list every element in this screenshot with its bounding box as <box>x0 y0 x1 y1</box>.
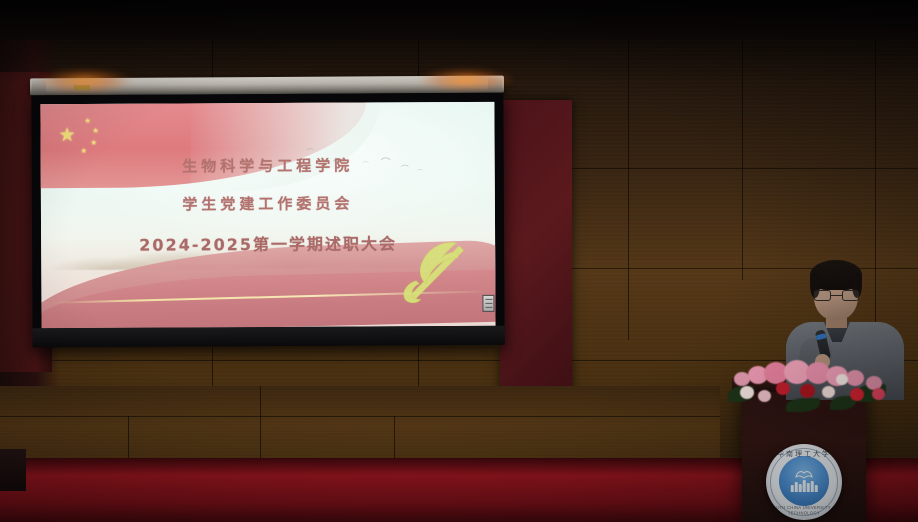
bird-icon-1: ︵ <box>307 145 314 152</box>
podium-flower-arrangement <box>726 356 894 414</box>
emblem-bird-icon <box>794 469 814 480</box>
ceiling-light-glow-left <box>36 68 132 94</box>
slide-text-block: 生物科学与工程学院 学生党建工作委员会 2024-2025第一学期述职大会 <box>41 154 496 256</box>
projection-screen[interactable]: ★ ★ ★ ★ ★ ︵ ︵ ︵ ︵ ︵ ︵ <box>31 93 504 347</box>
glasses-icon <box>814 290 859 301</box>
university-emblem: 华南理工大学 1934 SOUTH CHINA UNIVERSITY OF TE… <box>766 444 842 520</box>
microphone-band <box>816 333 827 340</box>
emblem-founding-year: 1934 <box>779 486 829 490</box>
presentation-slide: ★ ★ ★ ★ ★ ︵ ︵ ︵ ︵ ︵ ︵ <box>40 102 495 328</box>
flag-star-small-4: ★ <box>81 148 87 155</box>
flag-star-small-3: ★ <box>91 140 97 147</box>
flag-star-small-2: ★ <box>93 128 99 135</box>
slide-line-1: 生物科学与工程学院 <box>41 154 495 177</box>
slide-line-3: 2024-2025第一学期述职大会 <box>41 230 495 256</box>
slide-line-2: 学生党建工作委员会 <box>41 192 495 215</box>
screen-weight-bar <box>33 326 505 347</box>
floor-vent-box <box>0 449 26 491</box>
emblem-english-name: SOUTH CHINA UNIVERSITY OF TECHNOLOGY <box>766 504 842 516</box>
auditorium-scene: ★ ★ ★ ★ ★ ︵ ︵ ︵ ︵ ︵ ︵ <box>0 0 918 522</box>
flag-star-small-1: ★ <box>84 118 90 125</box>
flag-star-large: ★ <box>59 126 76 145</box>
taskbar-widget[interactable] <box>482 295 494 312</box>
projection-screen-image: ★ ★ ★ ★ ★ ︵ ︵ ︵ ︵ ︵ ︵ <box>40 102 495 328</box>
maroon-panel-center <box>500 100 572 400</box>
ceiling-light-glow-right <box>418 68 514 92</box>
